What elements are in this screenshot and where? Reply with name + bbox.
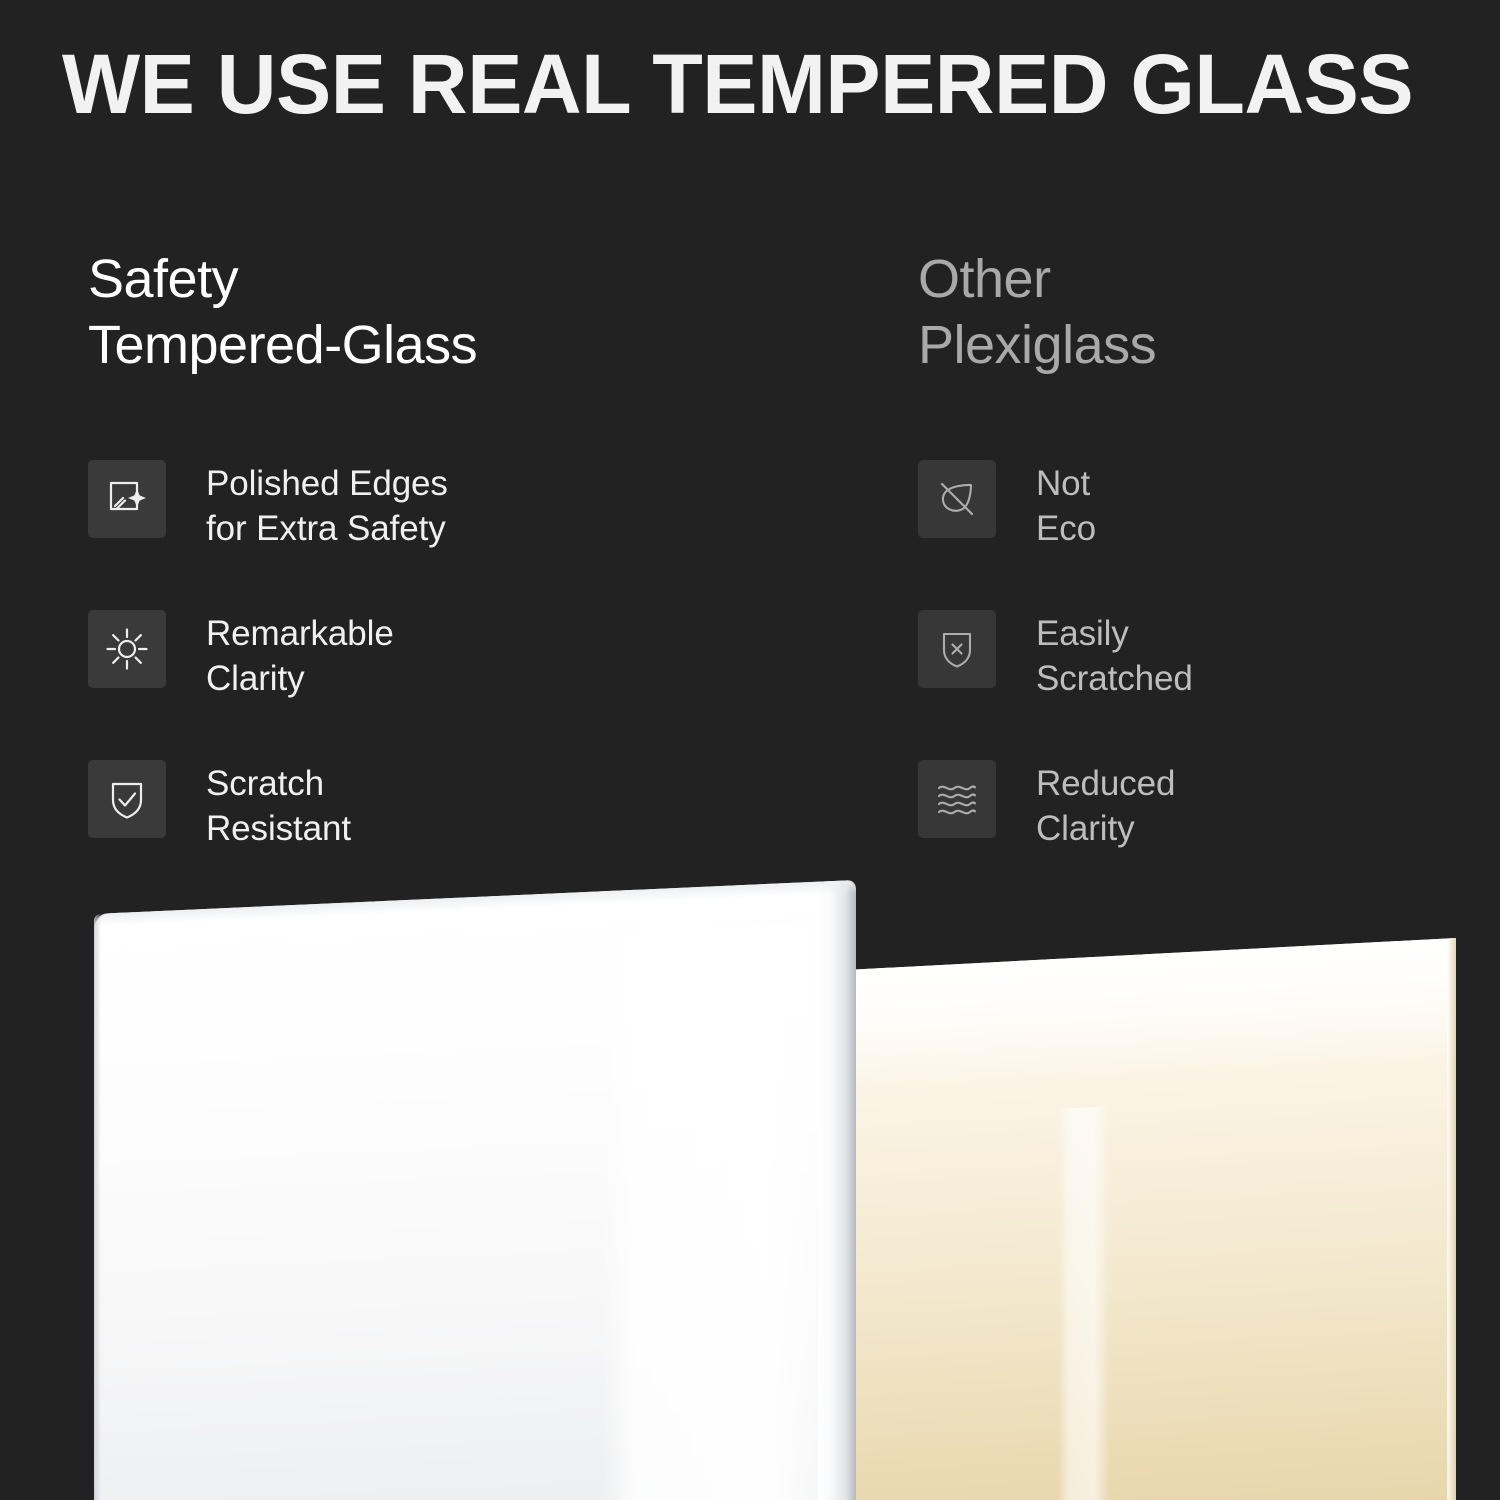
tempered-glass-panel xyxy=(94,880,856,1500)
column-title-tempered-glass: Safety Tempered-Glass xyxy=(88,246,848,378)
plexiglass-reflection xyxy=(1058,1106,1110,1500)
glass-polished-edge xyxy=(818,880,856,1500)
feature-label: Polished Edges for Extra Safety xyxy=(206,458,448,551)
shield-check-icon xyxy=(88,760,166,838)
feature-row: Easily Scratched xyxy=(918,608,1438,758)
feature-row: Remarkable Clarity xyxy=(88,608,848,758)
feature-label: Easily Scratched xyxy=(1036,608,1193,701)
infographic-page: WE USE REAL TEMPERED GLASS Safety Temper… xyxy=(0,0,1500,1500)
wavy-lines-distortion-icon xyxy=(918,760,996,838)
plexiglass-top-glow xyxy=(822,938,1456,1091)
product-photo xyxy=(0,870,1500,1500)
glass-left-edge xyxy=(94,914,101,1500)
shield-x-icon xyxy=(918,610,996,688)
glass-reflection xyxy=(602,923,834,1500)
sun-brightness-icon xyxy=(88,610,166,688)
polished-glass-sparkle-icon xyxy=(88,460,166,538)
glass-top-bevel xyxy=(94,880,856,927)
plexiglass-right-edge xyxy=(1447,938,1456,1500)
leaf-slash-not-eco-icon xyxy=(918,460,996,538)
feature-label: Scratch Resistant xyxy=(206,758,351,851)
plexiglass-panel xyxy=(822,938,1456,1500)
column-tempered-glass: Safety Tempered-Glass Polished Edges for… xyxy=(88,246,848,378)
feature-label: Not Eco xyxy=(1036,458,1096,551)
feature-row: Polished Edges for Extra Safety xyxy=(88,458,848,608)
feature-row: Not Eco xyxy=(918,458,1438,608)
page-title: WE USE REAL TEMPERED GLASS xyxy=(62,36,1441,132)
column-plexiglass: Other Plexiglass Not Eco xyxy=(918,246,1438,378)
feature-list-tempered-glass: Polished Edges for Extra Safety Remarkab… xyxy=(88,458,848,908)
feature-list-plexiglass: Not Eco Easily Scratched xyxy=(918,458,1438,908)
feature-label: Remarkable Clarity xyxy=(206,608,394,701)
feature-label: Reduced Clarity xyxy=(1036,758,1175,851)
column-title-plexiglass: Other Plexiglass xyxy=(918,246,1438,378)
